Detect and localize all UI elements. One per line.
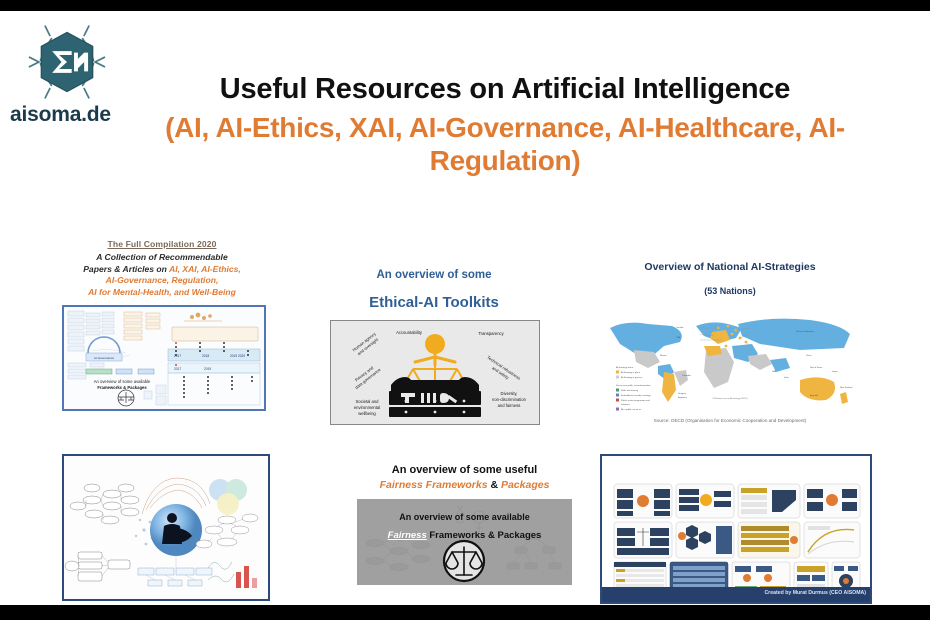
svg-text:2019: 2019 <box>204 367 211 371</box>
page-title-block: Useful Resources on Artificial Intellige… <box>105 73 905 177</box>
svg-text:New Zealand: New Zealand <box>840 387 853 389</box>
fc-line3: AI-Governance, Regulation, <box>106 275 219 285</box>
page-subtitle: (AI, AI-Ethics, XAI, AI-Governance, AI-H… <box>105 112 905 177</box>
svg-text:An overview of some available: An overview of some available <box>94 379 151 384</box>
svg-text:Uruguay: Uruguay <box>678 392 687 395</box>
svg-text:AI-Strategy status: AI-Strategy status <box>616 366 634 369</box>
card-fairness-subheading: Fairness Frameworks & Packages <box>357 479 572 491</box>
svg-text:Australia: Australia <box>810 394 819 397</box>
ff-amp: & <box>488 479 501 491</box>
card-ethical-heading: An overview of some <box>330 269 538 281</box>
fc-line4: AI for Mental-Health, and Well-Being <box>88 287 236 297</box>
svg-text:Focus area public sector/innov: Focus area public sector/innovation <box>616 384 651 387</box>
ethical-toolkit-diagram: Accountability Transparency Human agency… <box>331 321 539 424</box>
svg-text:UAE: UAE <box>772 370 777 373</box>
svg-text:initiatives: initiatives <box>621 403 631 406</box>
card-ethical-thumbnail[interactable]: Accountability Transparency Human agency… <box>330 320 540 425</box>
svg-text:AI in public sector as: AI in public sector as <box>621 408 642 411</box>
svg-text:Societal and: Societal and <box>355 399 379 404</box>
svg-text:2017: 2017 <box>174 367 181 371</box>
svg-text:non-discrimination: non-discrimination <box>492 397 527 402</box>
fairness-emph: Fairness <box>388 530 427 541</box>
card-fairness-thumbnail[interactable]: An overview of some available Fairness F… <box>357 499 572 585</box>
card-full-compilation-heading: The Full Compilation 2020 <box>62 239 262 249</box>
svg-text:Transparency: Transparency <box>478 331 504 336</box>
aisoma-hexagon-sigma-n-logo <box>28 23 106 101</box>
svg-text:Diversity,: Diversity, <box>501 391 518 396</box>
svg-text:53 Nations have an AI-strategy: 53 Nations have an AI-strategy (OECD) <box>712 397 747 400</box>
svg-text:Frameworks & Packages: Frameworks & Packages <box>97 385 147 390</box>
svg-text:and fairness: and fairness <box>498 403 521 408</box>
svg-text:2019: 2019 <box>230 354 237 358</box>
card-education-thumbnail[interactable]: A Collection of Recommendable Papers and… <box>62 454 270 601</box>
card-ethical-heading-block: An overview of some Ethical-AI Toolkits <box>330 269 538 311</box>
education-mindmap-diagram <box>64 456 268 599</box>
svg-text:Canada: Canada <box>676 327 684 329</box>
card-strategies-thumbnail[interactable]: CanadaUSA MexicoColombia UruguayArgentin… <box>600 306 860 416</box>
card-fairness-heading: An overview of some useful <box>357 464 572 476</box>
card-ethical-subheading: Ethical-AI Toolkits <box>330 294 538 311</box>
svg-text:USA: USA <box>676 336 681 339</box>
card-full-compilation-subheading: A Collection of Recommendable Papers & A… <box>62 252 262 298</box>
card-full-compilation[interactable]: The Full Compilation 2020 A Collection o… <box>62 239 262 411</box>
ff-accent-2: Packages <box>501 479 549 491</box>
fairness-thumb-line-2: Fairness Frameworks & Packages <box>357 530 572 541</box>
card-slides-thumbnail[interactable]: 13 Useful Slides on AI, AI-Ethics, & XAI <box>600 454 872 604</box>
svg-text:Colombia: Colombia <box>682 375 692 377</box>
slides-collage-diagram <box>602 456 870 602</box>
letterbox-bottom <box>0 605 930 620</box>
card-ai-in-education[interactable]: A Collection of Recommendable Papers and… <box>62 454 266 601</box>
fc-line1: A Collection of Recommendable <box>96 252 227 262</box>
card-slides-footer: Created by Murat Durmus (CEO AISOMA) <box>602 587 870 602</box>
card-full-compilation-thumbnail[interactable]: AI-Governance An overview of some availa… <box>62 305 266 411</box>
slide-canvas: aisoma.de Useful Resources on Artificial… <box>0 11 930 605</box>
fairness-rest: Frameworks & Packages <box>427 530 542 541</box>
card-strategies-source: Source: OECD (Organisation for Economic … <box>600 418 860 423</box>
card-ethical-ai-toolkits[interactable]: An overview of some Ethical-AI Toolkits <box>330 269 538 425</box>
svg-text:AI-Strategy in process: AI-Strategy in process <box>621 376 643 379</box>
svg-text:2018: 2018 <box>202 354 209 358</box>
svg-text:Accountability: Accountability <box>396 330 423 335</box>
svg-text:2020: 2020 <box>238 354 245 358</box>
fc-line2b: AI, XAI, AI-Ethics, <box>169 264 241 274</box>
svg-text:AI-Strategy in place: AI-Strategy in place <box>621 371 641 374</box>
ff-accent-1: Fairness Frameworks <box>380 479 488 491</box>
svg-text:wellbeing: wellbeing <box>358 411 376 416</box>
svg-text:Japan: Japan <box>832 371 839 373</box>
compilation-diagram: AI-Governance An overview of some availa… <box>64 307 264 409</box>
card-fairness-heading-block: An overview of some useful Fairness Fram… <box>357 464 572 491</box>
card-national-ai-strategies[interactable]: Overview of National AI-Strategies (53 N… <box>600 261 860 423</box>
svg-text:Argentina: Argentina <box>678 396 688 399</box>
card-strategies-subheading: (53 Nations) <box>600 286 860 296</box>
card-strategies-heading: Overview of National AI-Strategies <box>600 261 860 273</box>
card-fairness-frameworks[interactable]: An overview of some useful Fairness Fram… <box>357 464 572 585</box>
card-slides-credit: Created by Murat Durmus (CEO AISOMA) <box>764 590 866 596</box>
card-full-compilation-heading-block: The Full Compilation 2020 A Collection o… <box>62 239 262 298</box>
svg-text:Embedded in broader strategy: Embedded in broader strategy <box>621 394 651 397</box>
page-title: Useful Resources on Artificial Intellige… <box>105 73 905 105</box>
card-strategies-heading-block: Overview of National AI-Strategies (53 N… <box>600 261 860 296</box>
svg-text:Mexico: Mexico <box>660 355 667 357</box>
svg-text:Russian Federation: Russian Federation <box>796 330 815 333</box>
svg-text:environmental: environmental <box>354 405 380 410</box>
svg-text:Rep of Korea: Rep of Korea <box>810 366 823 369</box>
card-useful-slides[interactable]: 13 Useful Slides on AI, AI-Ethics, & XAI <box>600 454 868 604</box>
svg-text:Public sector programme and: Public sector programme and <box>621 399 650 402</box>
svg-text:China: China <box>806 355 812 357</box>
letterbox-top <box>0 0 930 11</box>
svg-text:AI-Governance: AI-Governance <box>94 356 115 360</box>
fairness-thumb-line-1: An overview of some available <box>357 512 572 522</box>
world-map-ai-strategies: CanadaUSA MexicoColombia UruguayArgentin… <box>600 306 860 416</box>
svg-text:Skills and training: Skills and training <box>621 389 639 392</box>
fc-line2a: Papers & Articles on <box>83 264 169 274</box>
